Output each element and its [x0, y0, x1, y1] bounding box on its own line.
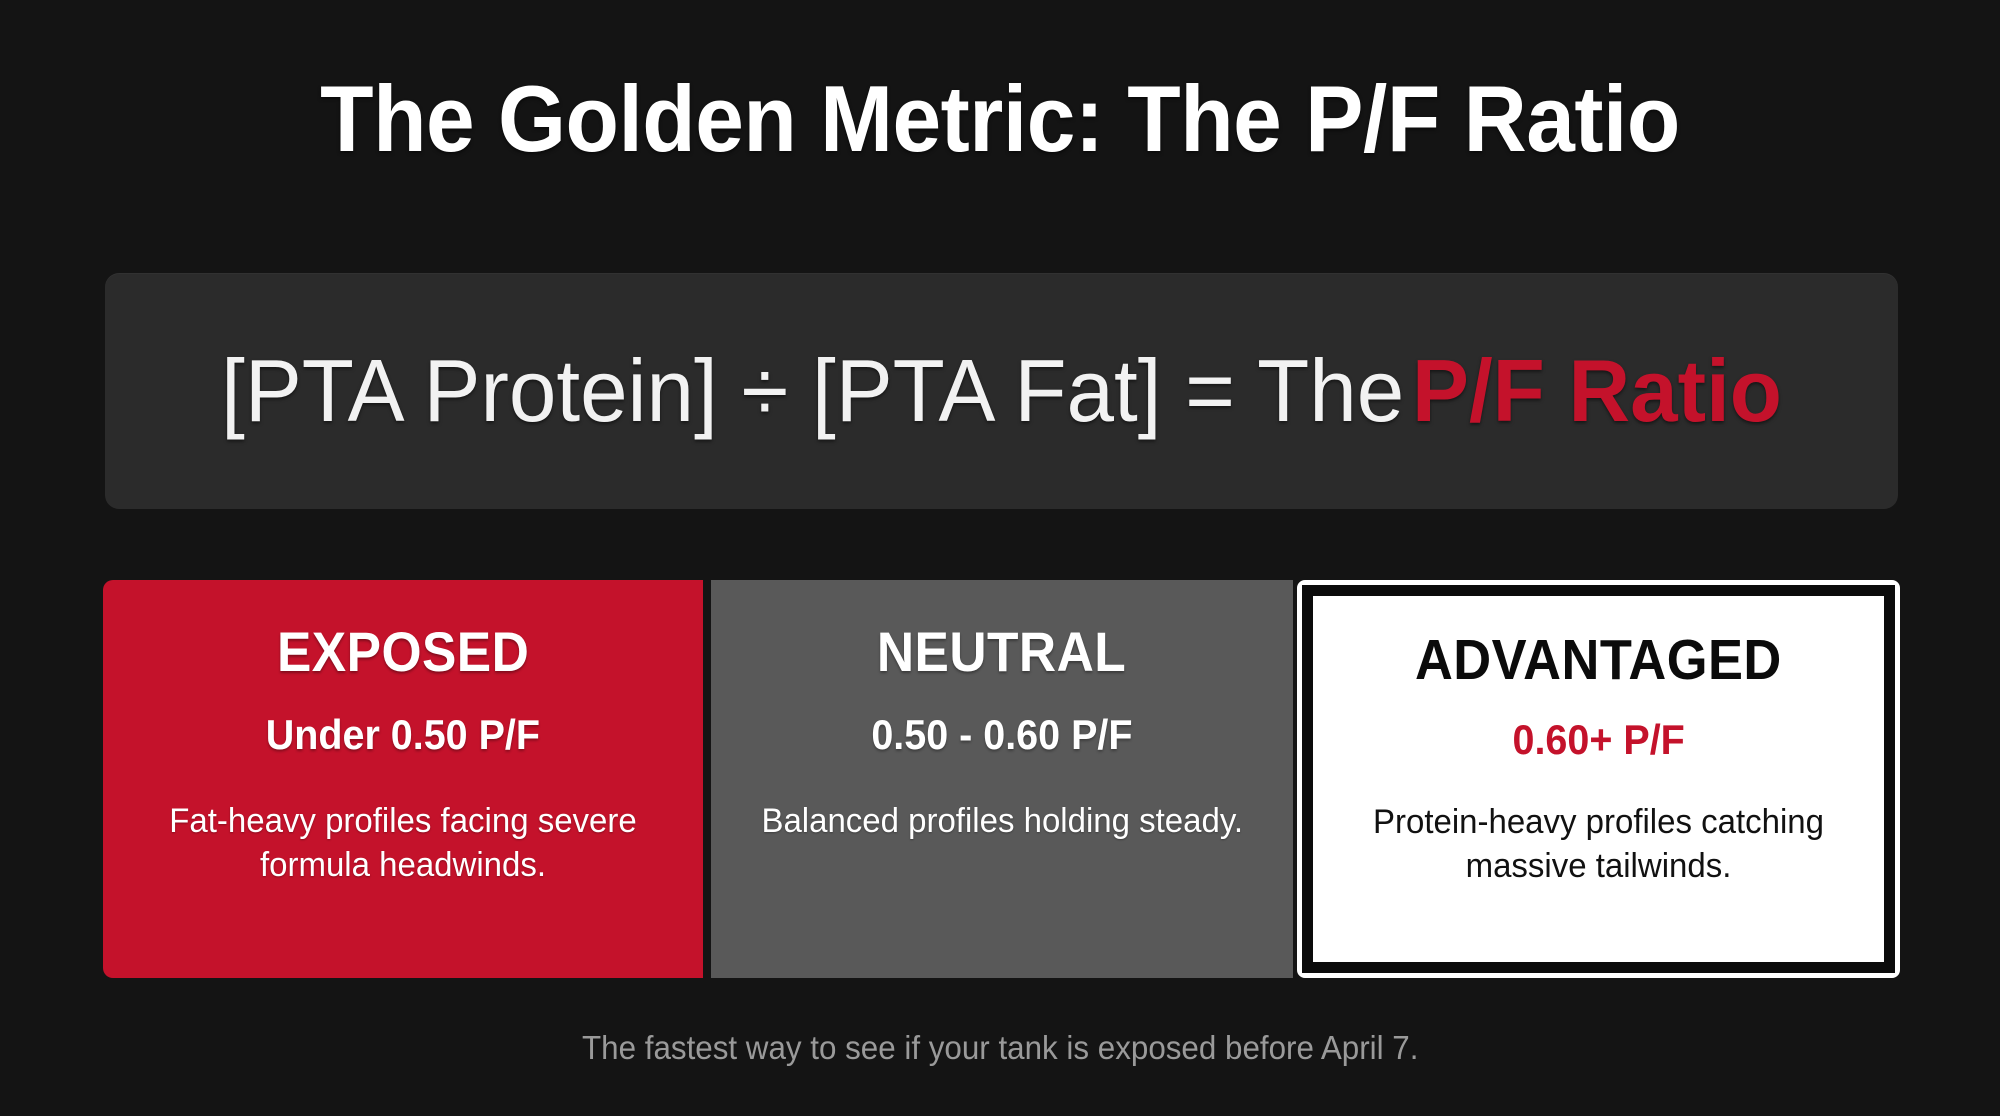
footer-note: The fastest way to see if your tank is e…	[582, 1030, 1418, 1066]
tier-range-exposed: Under 0.50 P/F	[266, 714, 540, 756]
tier-heading-exposed: EXPOSED	[277, 624, 529, 680]
tier-range-advantaged: 0.60+ P/F	[1512, 719, 1684, 761]
tier-card-neutral[interactable]: NEUTRAL 0.50 - 0.60 P/F Balanced profile…	[711, 580, 1293, 978]
tier-card-advantaged-inner: ADVANTAGED 0.60+ P/F Protein-heavy profi…	[1302, 585, 1895, 973]
formula-expression: [PTA Protein] ÷ [PTA Fat] = TheP/F Ratio	[221, 345, 1782, 437]
tier-card-row: EXPOSED Under 0.50 P/F Fat-heavy profile…	[103, 580, 1900, 978]
title-bar: The Golden Metric: The P/F Ratio	[0, 72, 2000, 166]
tier-heading-advantaged: ADVANTAGED	[1415, 632, 1782, 689]
infographic-slide: The Golden Metric: The P/F Ratio [PTA Pr…	[0, 0, 2000, 1116]
formula-expression-text: [PTA Protein] ÷ [PTA Fat] = The	[221, 341, 1404, 440]
page-title: The Golden Metric: The P/F Ratio	[320, 72, 1680, 166]
tier-card-exposed[interactable]: EXPOSED Under 0.50 P/F Fat-heavy profile…	[103, 580, 703, 978]
formula-highlight-text: P/F Ratio	[1412, 341, 1782, 440]
footer-bar: The fastest way to see if your tank is e…	[0, 1030, 2000, 1066]
tier-description-neutral: Balanced profiles holding steady.	[761, 800, 1243, 844]
tier-card-advantaged[interactable]: ADVANTAGED 0.60+ P/F Protein-heavy profi…	[1297, 580, 1900, 978]
formula-panel: [PTA Protein] ÷ [PTA Fat] = TheP/F Ratio	[105, 273, 1898, 509]
tier-heading-neutral: NEUTRAL	[877, 624, 1126, 680]
tier-range-neutral: 0.50 - 0.60 P/F	[871, 714, 1132, 756]
tier-description-exposed: Fat-heavy profiles facing severe formula…	[137, 800, 669, 887]
tier-description-advantaged: Protein-heavy profiles catching massive …	[1347, 801, 1850, 888]
